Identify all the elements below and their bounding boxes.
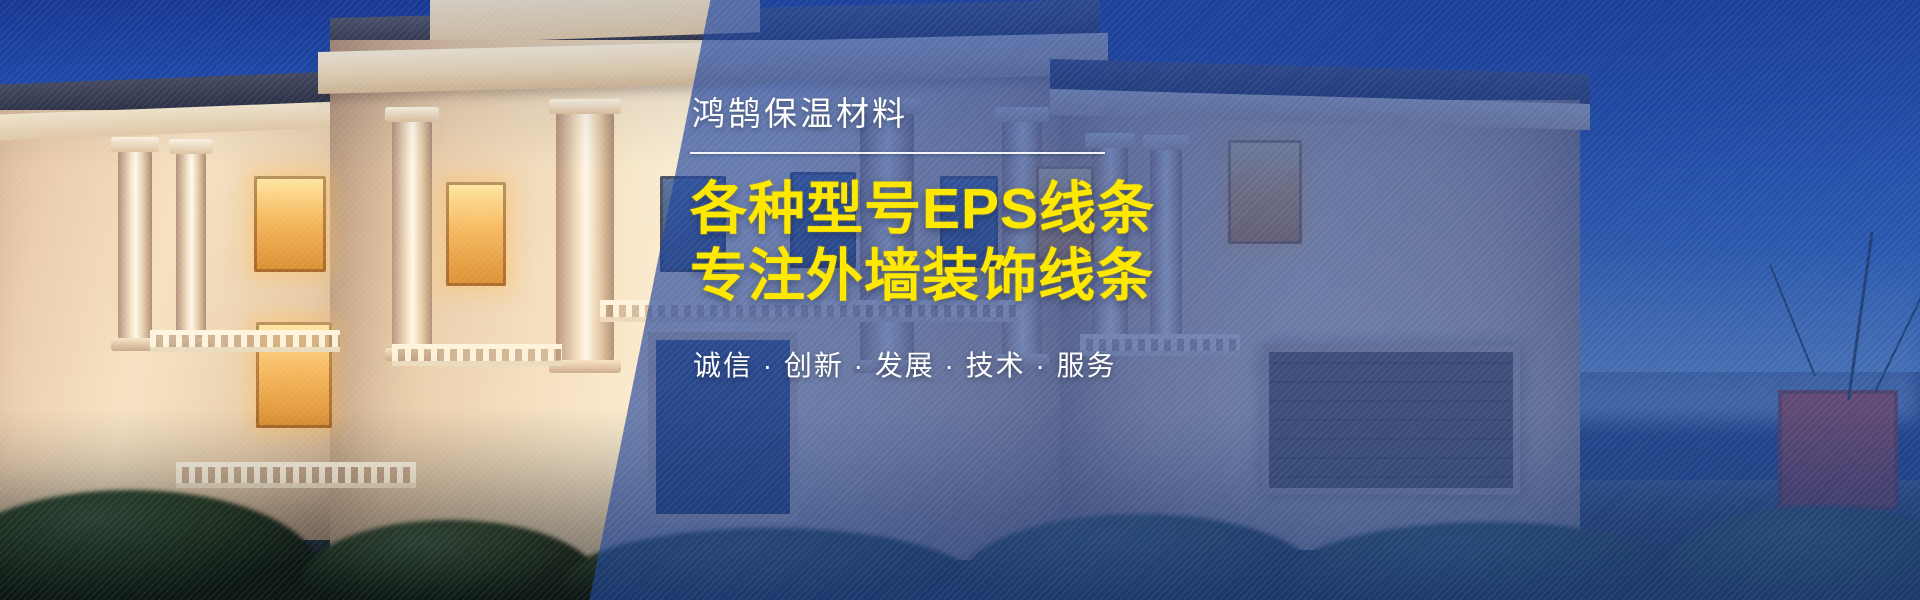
- brand-name: 鸿鹄保温材料: [692, 96, 1330, 132]
- headline-line-2: 专注外墙装饰线条: [690, 243, 1330, 310]
- banner-copy: 鸿鹄保温材料 各种型号EPS线条 专注外墙装饰线条 诚信 · 创新 · 发展 ·…: [690, 96, 1330, 384]
- tagline: 诚信 · 创新 · 发展 · 技术 · 服务: [693, 344, 1330, 384]
- divider-rule: [690, 152, 1105, 154]
- hero-banner: 鸿鹄保温材料 各种型号EPS线条 专注外墙装饰线条 诚信 · 创新 · 发展 ·…: [0, 0, 1920, 600]
- headline-line-1: 各种型号EPS线条: [690, 176, 1330, 243]
